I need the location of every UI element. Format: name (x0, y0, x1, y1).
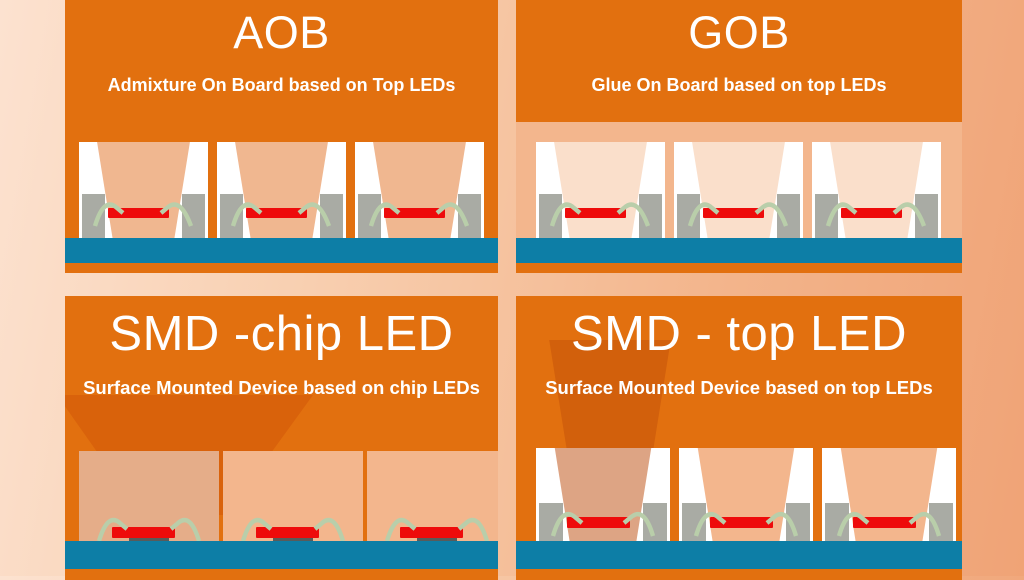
pcb-base (516, 569, 962, 580)
bond-wires (536, 142, 665, 238)
bond-wires (822, 448, 956, 549)
panel-aob: AOB Admixture On Board based on Top LEDs (65, 0, 498, 273)
bond-wires (536, 448, 670, 549)
led-package (674, 142, 803, 238)
diagram-stage: AOB Admixture On Board based on Top LEDs (0, 0, 1024, 576)
gob-led-row (516, 142, 962, 242)
bond-wires (679, 448, 813, 549)
led-package (79, 142, 208, 238)
led-package (536, 142, 665, 238)
pcb-base (65, 263, 498, 273)
panel-smd-chip: SMD -chip LED Surface Mounted Device bas… (65, 296, 498, 580)
bond-wires (674, 142, 803, 238)
panel-gob-title: GOB (516, 10, 962, 55)
panel-gob: GOB Glue On Board based on top LEDs (516, 0, 962, 273)
bond-wires (217, 142, 346, 238)
panel-smd-chip-title: SMD -chip LED (65, 310, 498, 359)
bond-wires (812, 142, 941, 238)
pcb-board (516, 238, 962, 263)
panel-aob-titles: AOB Admixture On Board based on Top LEDs (65, 0, 498, 94)
pcb-board (65, 238, 498, 263)
panel-gob-titles: GOB Glue On Board based on top LEDs (516, 0, 962, 94)
panel-smd-top: SMD - top LED Surface Mounted Device bas… (516, 296, 962, 580)
led-package (217, 142, 346, 238)
led-package (355, 142, 484, 238)
panel-aob-subtitle: Admixture On Board based on Top LEDs (65, 76, 498, 94)
panel-gob-subtitle: Glue On Board based on top LEDs (516, 76, 962, 94)
pcb-base (516, 263, 962, 273)
led-package (822, 448, 956, 549)
panel-smd-chip-titles: SMD -chip LED Surface Mounted Device bas… (65, 296, 498, 398)
bond-wires (79, 142, 208, 238)
pcb-base (65, 569, 498, 580)
panel-smd-chip-subtitle: Surface Mounted Device based on chip LED… (65, 379, 498, 398)
bond-wires (355, 142, 484, 238)
pcb-board (65, 541, 498, 569)
led-package (679, 448, 813, 549)
aob-led-row (65, 142, 498, 242)
led-package (536, 448, 670, 549)
led-package (812, 142, 941, 238)
panel-aob-title: AOB (65, 10, 498, 55)
smd-top-led-row (516, 448, 962, 553)
pcb-board (516, 541, 962, 569)
